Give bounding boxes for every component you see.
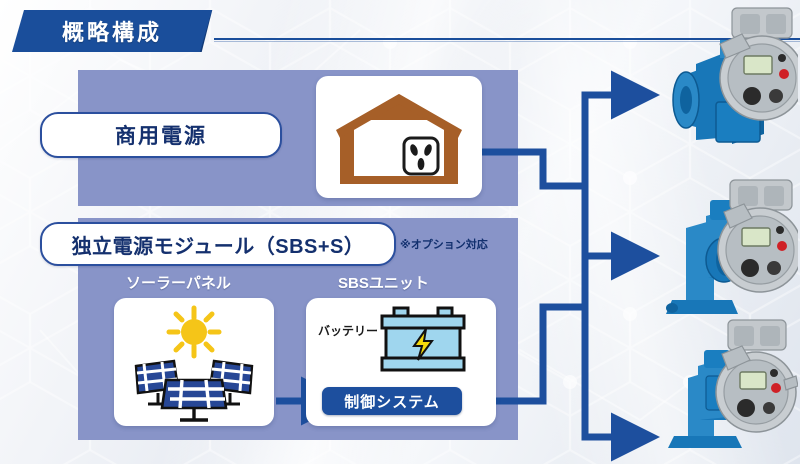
solar-panel-caption: ソーラーパネル (126, 272, 231, 293)
solar-panel-icon (114, 298, 274, 426)
valve-actuator-top (660, 4, 798, 161)
control-system-label: 制御システム (344, 391, 440, 412)
warehouse-icon (316, 76, 482, 198)
module-label-pill: 独立電源モジュール（SBS+S） (40, 222, 396, 266)
sbs-unit-caption: SBSユニット (338, 272, 429, 293)
actuator-control-head (716, 320, 798, 432)
commercial-power-label: 商用電源 (115, 120, 207, 150)
solar-panel-card (114, 298, 274, 426)
option-note: ※オプション対応 (400, 236, 488, 252)
warehouse-card (316, 76, 482, 198)
valve-actuator-middle (648, 178, 798, 331)
valve-actuator-icon (648, 178, 798, 326)
valve-actuator-icon (660, 4, 798, 156)
valve-actuator-icon (664, 318, 798, 458)
commercial-power-label-pill: 商用電源 (40, 112, 282, 158)
diagram-canvas: 概略構成 (0, 0, 800, 464)
valve-actuator-bottom (664, 318, 798, 463)
control-system-bar[interactable]: 制御システム (322, 387, 462, 415)
battery-label: バッテリー (318, 322, 378, 339)
power-outlet-icon (404, 138, 438, 174)
actuator-control-head (720, 8, 798, 120)
solar-module-center (162, 380, 226, 420)
actuator-control-head (718, 180, 798, 292)
module-label: 独立電源モジュール（SBS+S） (72, 230, 365, 259)
